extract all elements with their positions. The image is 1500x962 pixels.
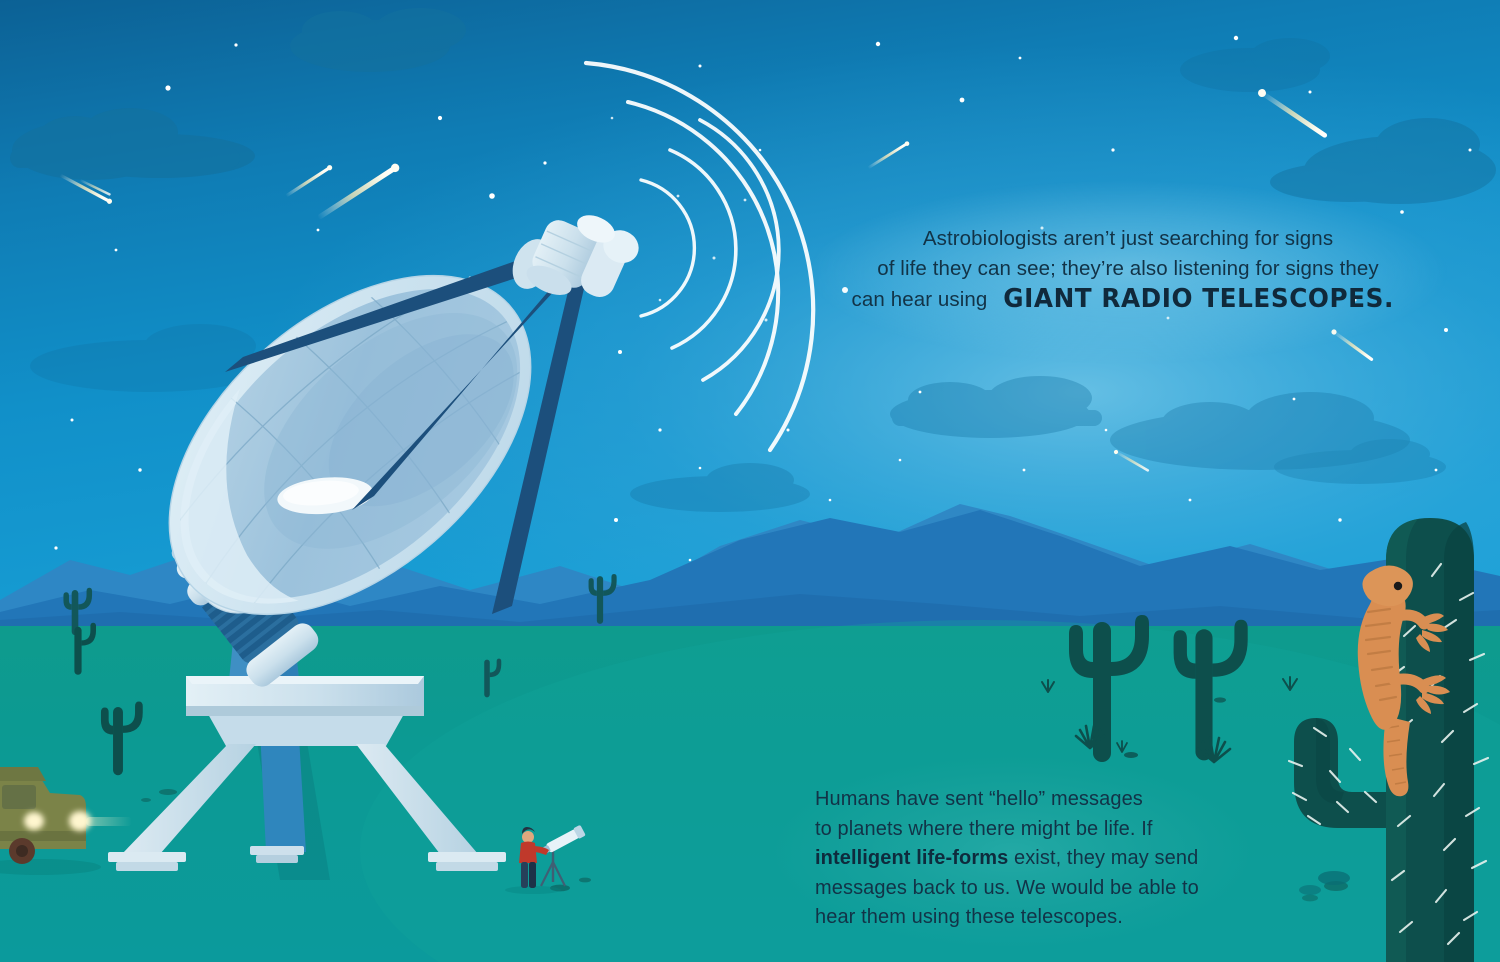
top-caption-line2: of life they can see; they’re also liste… — [828, 254, 1428, 284]
giant-radio-telescopes-emphasis: GIANT RADIO TELESCOPES. — [1004, 284, 1395, 314]
top-caption-line3: can hear using GIANT RADIO TELESCOPES. — [828, 284, 1428, 315]
top-caption-line1: Astrobiologists aren’t just searching fo… — [828, 224, 1428, 254]
desert-ground — [0, 620, 1500, 962]
scene-svg — [0, 0, 1500, 962]
intelligent-life-forms-emphasis: intelligent life-forms — [815, 847, 1008, 869]
top-caption-lead: can hear using — [852, 288, 988, 311]
top-caption: Astrobiologists aren’t just searching fo… — [828, 224, 1428, 315]
bottom-caption: Humans have sent “hello” messages to pla… — [815, 785, 1235, 933]
bottom-caption-line3-rest: exist, they may send — [1008, 847, 1198, 869]
bottom-caption-line4: messages back to us. We would be able to — [815, 877, 1199, 899]
bottom-caption-line5: hear them using these telescopes. — [815, 906, 1123, 928]
bottom-caption-line1: Humans have sent “hello” messages — [815, 788, 1143, 810]
illustration-page: Astrobiologists aren’t just searching fo… — [0, 0, 1500, 962]
bottom-caption-line2: to planets where there might be life. If — [815, 818, 1153, 840]
